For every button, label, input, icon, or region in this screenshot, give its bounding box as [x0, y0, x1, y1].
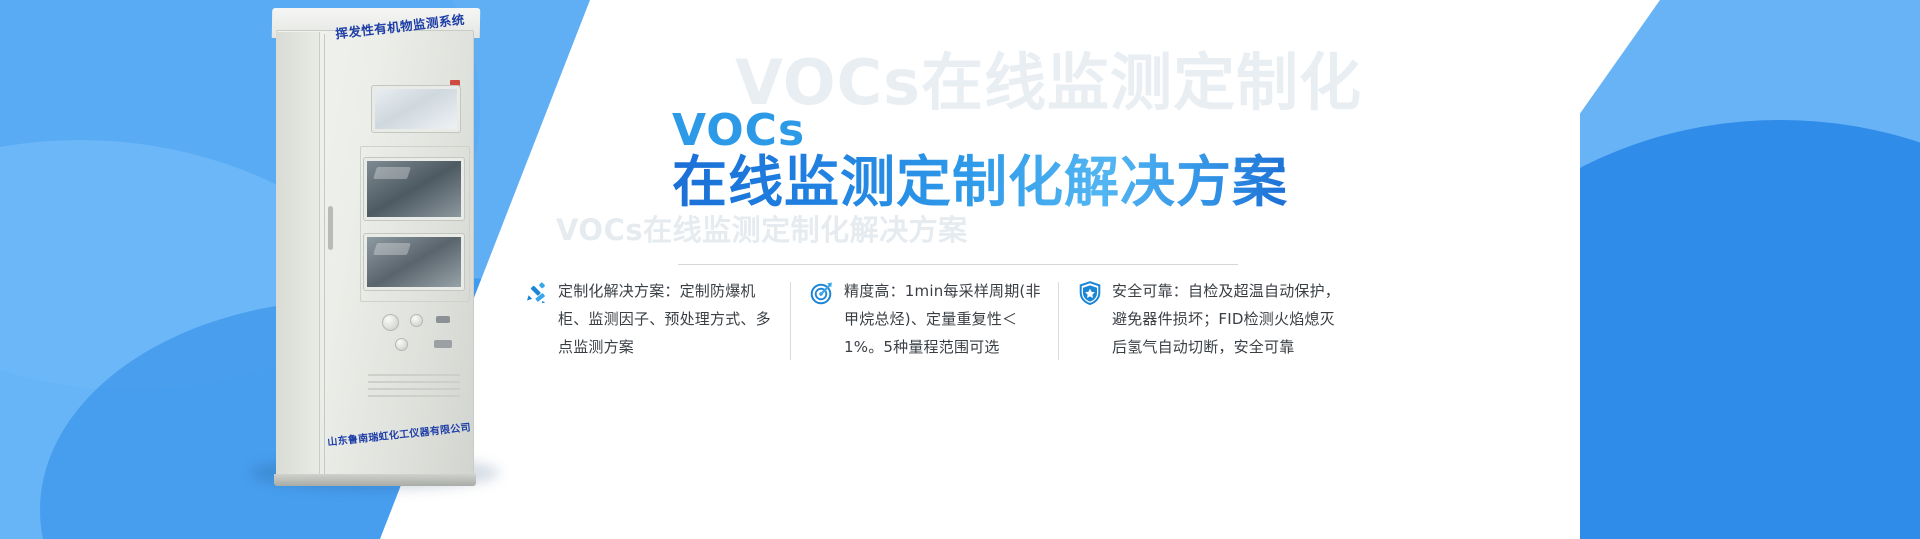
- feature-text: 定制化解决方案：定制防爆机柜、监测因子、预处理方式、多点监测方案: [558, 278, 774, 361]
- cabinet-door-handle: [328, 206, 333, 250]
- cabinet-knob-1: [382, 314, 399, 331]
- headline-english: VOCs: [672, 108, 1288, 154]
- cabinet-knob-3: [395, 338, 408, 351]
- cabinet-knob-2: [410, 314, 423, 327]
- cabinet-base: [274, 474, 476, 486]
- headline-chinese: 在线监测定制化解决方案: [672, 152, 1288, 214]
- ghost-headline-top: VOCs在线监测定制化: [735, 52, 1362, 114]
- headline-divider: [678, 264, 1238, 265]
- cabinet-indicator-1: [436, 316, 450, 323]
- cabinet-vent-slots: [368, 374, 460, 376]
- product-cabinet-image: 挥发性有机物监测系统 山东鲁南瑞虹化工仪器有限公司: [264, 8, 488, 498]
- cabinet-display-screen-lower: [364, 234, 464, 290]
- feature-item-precision: 精度高：1min每采样周期(非甲烷总烃)、定量重复性＜1%。5种量程范围可选: [790, 278, 1058, 361]
- feature-item-customization: 定制化解决方案：定制防爆机柜、监测因子、预处理方式、多点监测方案: [522, 278, 790, 361]
- cabinet-door-seam: [324, 34, 325, 474]
- cabinet-window-top: [372, 86, 460, 132]
- shield-star-icon: [1076, 279, 1104, 307]
- ghost-headline-mid: VOCs在线监测定制化解决方案: [556, 216, 968, 245]
- target-arrow-icon: [808, 279, 836, 307]
- feature-text: 精度高：1min每采样周期(非甲烷总烃)、定量重复性＜1%。5种量程范围可选: [844, 278, 1042, 361]
- feature-list: 定制化解决方案：定制防爆机柜、监测因子、预处理方式、多点监测方案 精度高：1mi…: [522, 278, 1522, 361]
- feature-text: 安全可靠：自检及超温自动保护，避免器件损坏；FID检测火焰熄灭后氢气自动切断，安…: [1112, 278, 1342, 361]
- cabinet-side-panel: [276, 32, 320, 476]
- feature-item-safety: 安全可靠：自检及超温自动保护，避免器件损坏；FID检测火焰熄灭后氢气自动切断，安…: [1058, 278, 1358, 361]
- promo-banner: VOCs在线监测定制化 VOCs在线监测定制化解决方案 VOCs 在线监测定制化…: [0, 0, 1920, 539]
- headline-block: VOCs 在线监测定制化解决方案: [672, 108, 1288, 214]
- cabinet-indicator-2: [434, 340, 452, 348]
- pencil-ruler-icon: [522, 279, 550, 307]
- cabinet-display-screen-upper: [364, 158, 464, 220]
